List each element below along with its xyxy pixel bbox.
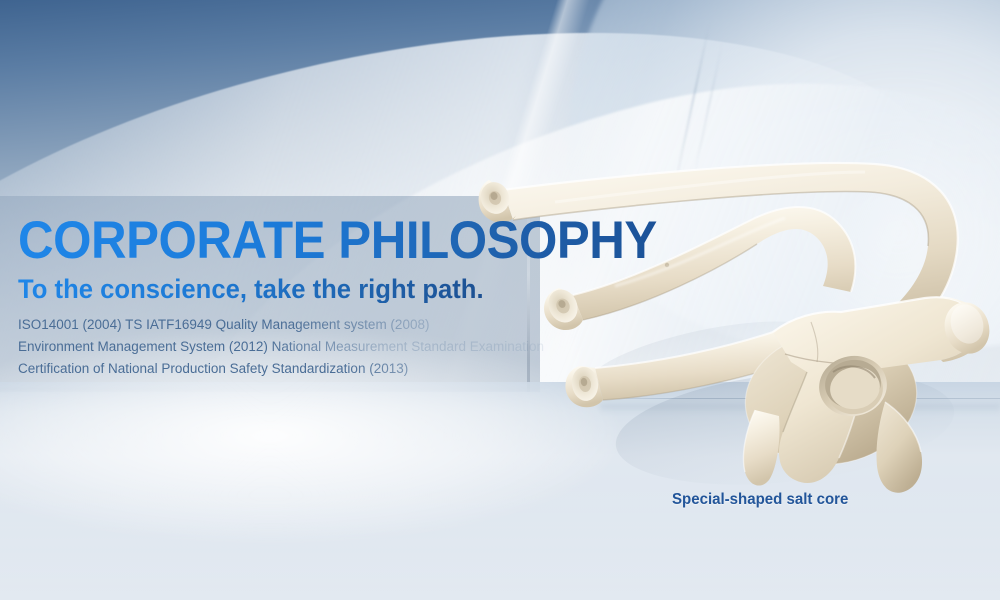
certification-line-3: Certification of National Production Saf… xyxy=(18,358,578,380)
background-bottom-vignette xyxy=(0,480,1000,600)
corporate-philosophy-banner: CORPORATE PHILOSOPHY To the conscience, … xyxy=(0,0,1000,600)
salt-core-product-image xyxy=(455,110,1000,510)
certification-list: ISO14001 (2004) TS IATF16949 Quality Man… xyxy=(18,314,578,380)
certification-line-2: Environment Management System (2012) Nat… xyxy=(18,336,578,358)
certification-line-1: ISO14001 (2004) TS IATF16949 Quality Man… xyxy=(18,314,578,336)
slogan: To the conscience, take the right path. xyxy=(18,276,484,303)
page-title: CORPORATE PHILOSOPHY xyxy=(18,214,657,267)
salt-core-illustration xyxy=(455,110,1000,510)
